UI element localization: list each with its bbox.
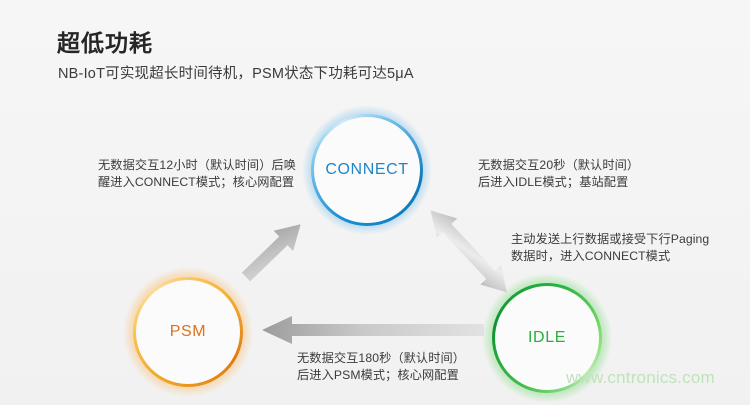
slide-canvas: 超低功耗 NB-IoT可实现超长时间待机，PSM状态下功耗可达5μA [0,0,750,405]
caption-psm-to-connect: 无数据交互12小时（默认时间）后唤 醒进入CONNECT模式；核心网配置 [98,157,296,191]
caption-idle-to-psm-line2: 后进入PSM模式；核心网配置 [297,367,465,384]
caption-psm-to-connect-line2: 醒进入CONNECT模式；核心网配置 [98,174,296,191]
connect-label: CONNECT [325,161,408,179]
caption-connect-to-idle-line1: 无数据交互20秒（默认时间） [478,157,639,174]
caption-psm-to-connect-line1: 无数据交互12小时（默认时间）后唤 [98,157,296,174]
arrow-connect-idle-bidirectional [420,201,517,302]
psm-label: PSM [170,323,206,341]
caption-idle-to-psm: 无数据交互180秒（默认时间） 后进入PSM模式；核心网配置 [297,350,465,384]
arrow-psm-to-connect [236,214,310,287]
caption-idle-to-connect-line2: 数据时，进入CONNECT模式 [511,248,709,265]
caption-idle-to-connect: 主动发送上行数据或接受下行Paging 数据时，进入CONNECT模式 [511,231,709,265]
arrow-idle-to-psm [262,316,484,344]
site-watermark: www.cntronics.com [566,368,715,388]
caption-idle-to-connect-line1: 主动发送上行数据或接受下行Paging [511,231,709,248]
caption-connect-to-idle-line2: 后进入IDLE模式；基站配置 [478,174,639,191]
caption-idle-to-psm-line1: 无数据交互180秒（默认时间） [297,350,465,367]
state-node-psm[interactable]: PSM [133,277,243,387]
caption-connect-to-idle: 无数据交互20秒（默认时间） 后进入IDLE模式；基站配置 [478,157,639,191]
idle-label: IDLE [528,329,566,347]
state-node-connect[interactable]: CONNECT [311,114,423,226]
